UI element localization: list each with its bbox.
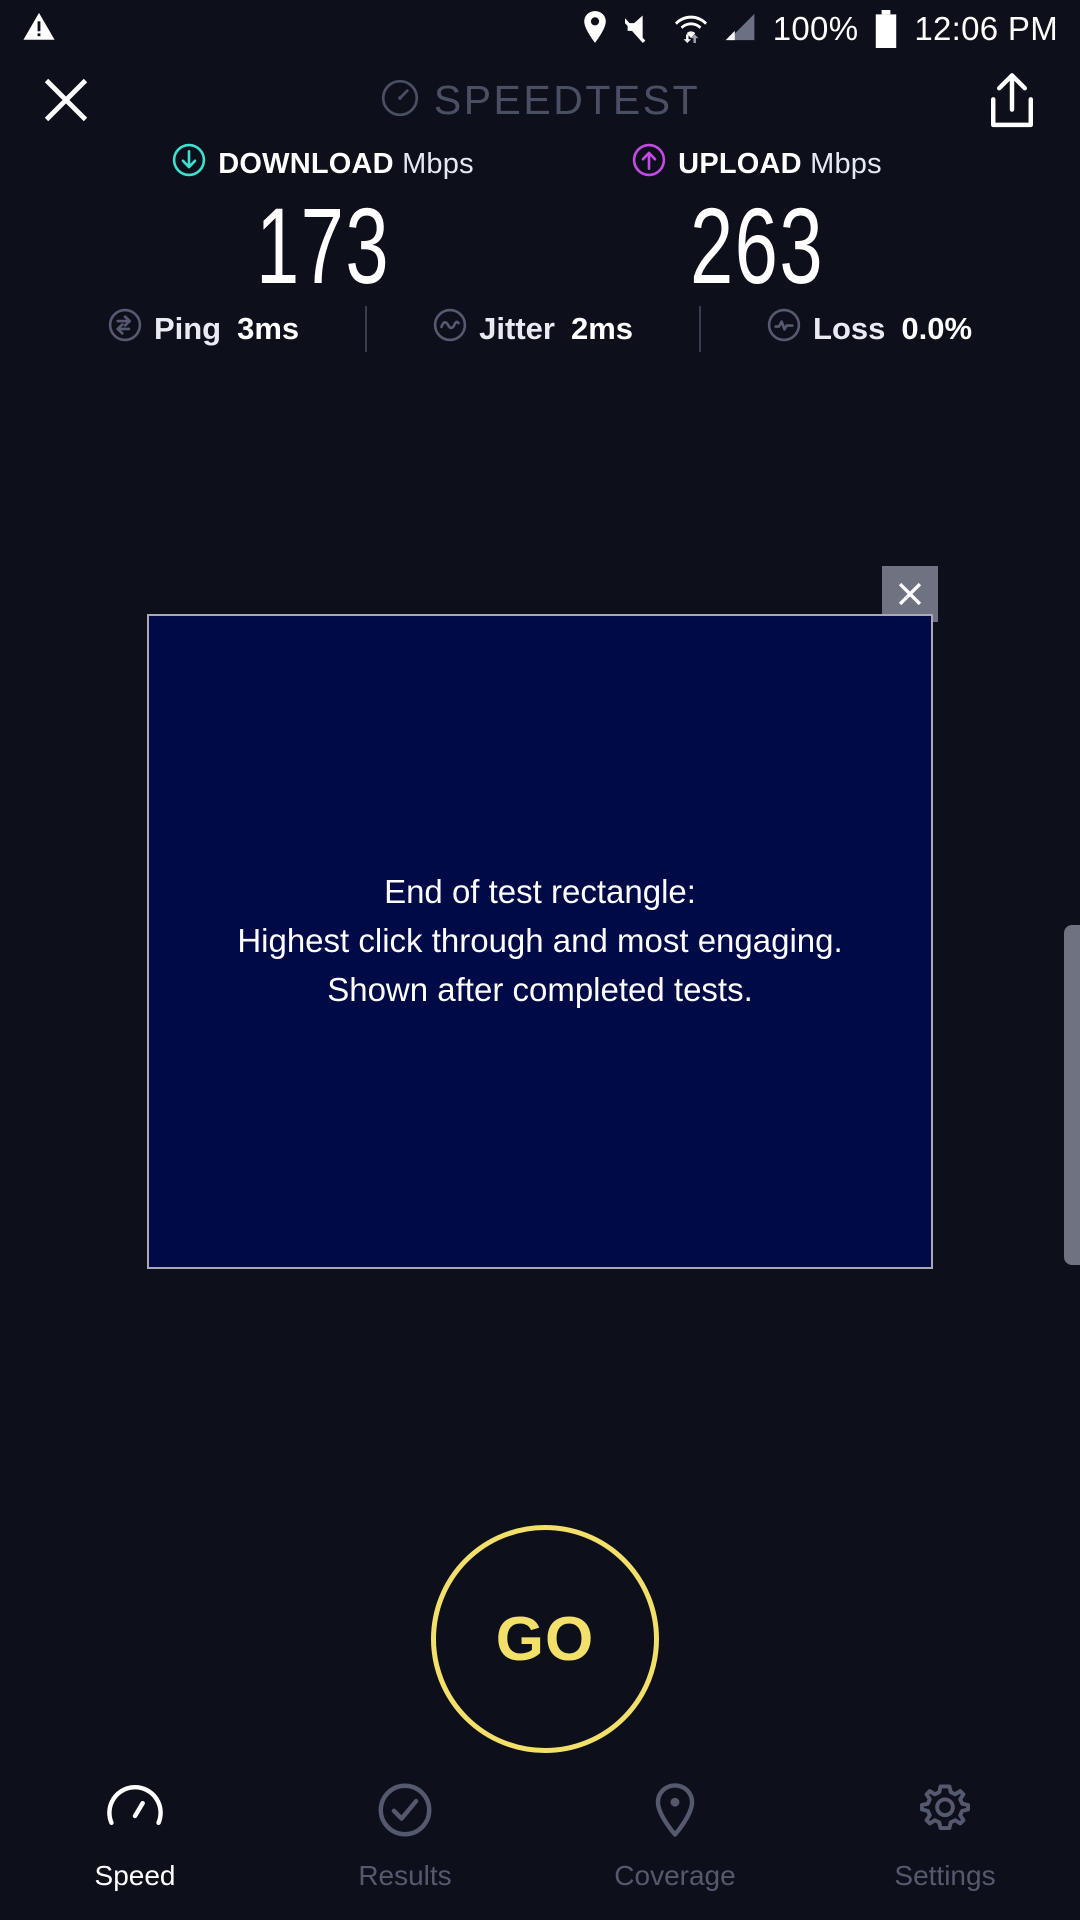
nav-item-settings[interactable]: Settings [810, 1752, 1080, 1920]
nav-item-coverage-label: Coverage [614, 1860, 735, 1892]
arrow-down-circle-icon [172, 143, 206, 185]
metric-ping-label: Ping [154, 311, 221, 347]
bottom-navigation: Speed Results Coverage Settings [0, 1752, 1080, 1920]
wifi-icon [675, 10, 707, 49]
download-value: 173 [204, 192, 442, 300]
go-button[interactable]: GO [431, 1525, 659, 1753]
metric-loss-value: 0.0% [901, 311, 972, 347]
metric-loss: Loss 0.0% [767, 308, 972, 350]
ad-line-3: Shown after completed tests. [237, 966, 842, 1015]
battery-full-icon [874, 10, 898, 48]
location-pin-icon [581, 10, 609, 49]
metric-jitter-value: 2ms [571, 311, 633, 347]
metric-ping-value: 3ms [237, 311, 299, 347]
download-label-row: DOWNLOAD Mbps [158, 142, 488, 186]
nav-item-coverage[interactable]: Coverage [540, 1752, 810, 1920]
metric-ping: Ping 3ms [108, 308, 299, 350]
status-bar-right: 100% 12:06 PM [581, 10, 1058, 49]
arrow-up-circle-icon [632, 143, 666, 185]
nav-item-settings-label: Settings [894, 1860, 995, 1892]
ad-text: End of test rectangle: Highest click thr… [237, 868, 842, 1014]
map-pin-icon [646, 1781, 704, 1844]
speedometer-icon [106, 1781, 164, 1844]
ad-line-1: End of test rectangle: [237, 868, 842, 917]
brand-title: SPEEDTEST [0, 58, 1080, 142]
ping-icon [108, 308, 142, 350]
upload-value: 263 [638, 192, 876, 300]
clock-time: 12:06 PM [914, 10, 1058, 48]
nav-item-results[interactable]: Results [270, 1752, 540, 1920]
upload-result: UPLOAD Mbps 263 [592, 142, 922, 300]
metric-divider [365, 306, 367, 352]
download-result: DOWNLOAD Mbps 173 [158, 142, 488, 300]
upload-label: UPLOAD Mbps [678, 148, 882, 181]
battery-percent: 100% [773, 10, 859, 48]
jitter-icon [433, 308, 467, 350]
metric-jitter: Jitter 2ms [433, 308, 633, 350]
mute-icon [625, 11, 659, 48]
share-button[interactable] [984, 72, 1040, 130]
status-bar-left [22, 10, 56, 49]
scroll-handle[interactable] [1064, 925, 1080, 1265]
speedometer-icon [380, 78, 420, 123]
speed-values-row: DOWNLOAD Mbps 173 UPLOAD Mbps 263 [0, 142, 1080, 300]
nav-item-results-label: Results [358, 1860, 451, 1892]
warning-triangle-icon [22, 10, 56, 49]
loss-icon [767, 308, 801, 350]
status-bar: 100% 12:06 PM [0, 0, 1080, 58]
check-circle-icon [376, 1781, 434, 1844]
gear-icon [916, 1781, 974, 1844]
cellular-signal-icon [723, 11, 757, 48]
app-header: SPEEDTEST [0, 58, 1080, 142]
network-metrics-row: Ping 3ms Jitter 2ms Loss 0.0% [0, 306, 1080, 352]
ad-line-2: Highest click through and most engaging. [237, 917, 842, 966]
brand-label: SPEEDTEST [434, 77, 700, 124]
upload-label-row: UPLOAD Mbps [592, 142, 922, 186]
results-summary: DOWNLOAD Mbps 173 UPLOAD Mbps 263 [0, 142, 1080, 300]
metric-divider [699, 306, 701, 352]
nav-item-speed[interactable]: Speed [0, 1752, 270, 1920]
advertisement-banner[interactable]: End of test rectangle: Highest click thr… [147, 614, 933, 1269]
metric-loss-label: Loss [813, 311, 885, 347]
nav-item-speed-label: Speed [95, 1860, 176, 1892]
metric-jitter-label: Jitter [479, 311, 555, 347]
download-label: DOWNLOAD Mbps [218, 148, 474, 181]
go-button-label: GO [496, 1604, 594, 1675]
